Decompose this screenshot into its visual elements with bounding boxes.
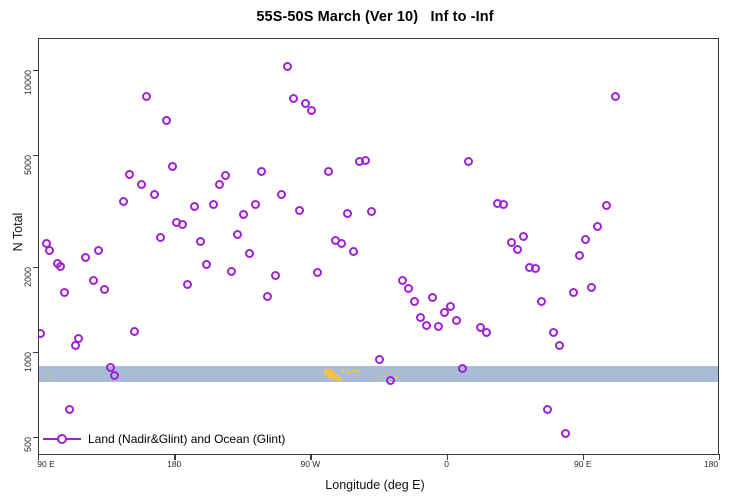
data-point [375,355,384,364]
data-point [45,246,54,255]
data-point [482,328,491,337]
x-tick-label: 180 [704,459,718,469]
chart-title: 55S-50S March (Ver 10) Inf to -Inf [0,9,750,25]
data-point [307,106,316,115]
data-point [168,162,177,171]
x-tick-mark [719,454,720,460]
data-point [434,322,443,331]
data-point [581,235,590,244]
y-tick-label: 2000 [23,267,33,287]
coastline-blob [47,376,50,378]
data-point [38,329,45,338]
x-tick-label: 90 E [37,459,55,469]
data-point [422,321,431,330]
data-point [209,200,218,209]
data-point [343,209,352,218]
data-point [410,297,419,306]
data-point [295,206,304,215]
data-point [283,62,292,71]
y-tick-label: 10000 [23,70,33,95]
data-point [452,316,461,325]
data-point [531,264,540,273]
data-point [74,334,83,343]
data-point [561,429,570,438]
data-point [150,190,159,199]
data-point [337,239,346,248]
data-point [94,246,103,255]
data-point [156,233,165,242]
x-tick-label: 180 [167,459,181,469]
coastline-blob [352,370,357,372]
data-point [575,251,584,260]
data-point [367,207,376,216]
coastline-blob [341,370,344,373]
data-point [519,232,528,241]
data-point [349,247,358,256]
data-point [513,245,522,254]
data-point [263,292,272,301]
data-point [81,253,90,262]
data-point [142,92,151,101]
coastline-blob [377,375,380,377]
legend-marker-icon [43,433,81,445]
x-tick-label: 90 W [300,459,320,469]
data-point [60,288,69,297]
data-point [183,280,192,289]
coastline-blob [347,371,351,373]
data-point [587,283,596,292]
data-point [446,302,455,311]
data-point [89,276,98,285]
data-point [549,328,558,337]
y-tick-label: 5000 [23,155,33,175]
data-point [56,262,65,271]
data-point [65,405,74,414]
chart-figure: 55S-50S March (Ver 10) Inf to -Inf N Tot… [0,0,750,500]
data-point [602,201,611,210]
data-point [537,297,546,306]
x-tick-label: 90 E [574,459,592,469]
coastline-blob [324,369,334,376]
data-point [543,405,552,414]
data-point [555,341,564,350]
plot-area[interactable]: Land (Nadir&Glint) and Ocean (Glint) [38,38,719,455]
data-point [313,268,322,277]
coastline-blob [386,372,389,374]
x-tick-label: 0 [444,459,449,469]
data-point [251,200,260,209]
data-point [361,156,370,165]
data-point [100,285,109,294]
y-tick-label: 500 [23,437,33,452]
data-point [386,376,395,385]
data-point [221,171,230,180]
data-point [257,167,266,176]
data-point [428,293,437,302]
data-point [233,230,242,239]
data-point [289,94,298,103]
data-point [196,237,205,246]
data-point [324,167,333,176]
data-point [271,271,280,280]
data-point [404,284,413,293]
x-axis-title: Longitude (deg E) [0,478,750,492]
data-point [215,180,224,189]
data-point [130,327,139,336]
data-point [499,200,508,209]
data-point [202,260,211,269]
ocean-latitude-band [39,366,718,382]
data-point [190,202,199,211]
y-tick-label: 1000 [23,352,33,372]
data-point [125,170,134,179]
data-point [178,220,187,229]
y-axis-title: N Total [11,192,25,272]
data-point [119,197,128,206]
data-point [611,92,620,101]
data-point [593,222,602,231]
data-point [137,180,146,189]
legend-label: Land (Nadir&Glint) and Ocean (Glint) [88,432,285,446]
coastline-blob [395,376,398,378]
data-point [464,157,473,166]
data-point [239,210,248,219]
data-point [277,190,286,199]
data-point [245,249,254,258]
data-point [227,267,236,276]
data-point [569,288,578,297]
data-point [162,116,171,125]
legend[interactable]: Land (Nadir&Glint) and Ocean (Glint) [43,432,285,446]
